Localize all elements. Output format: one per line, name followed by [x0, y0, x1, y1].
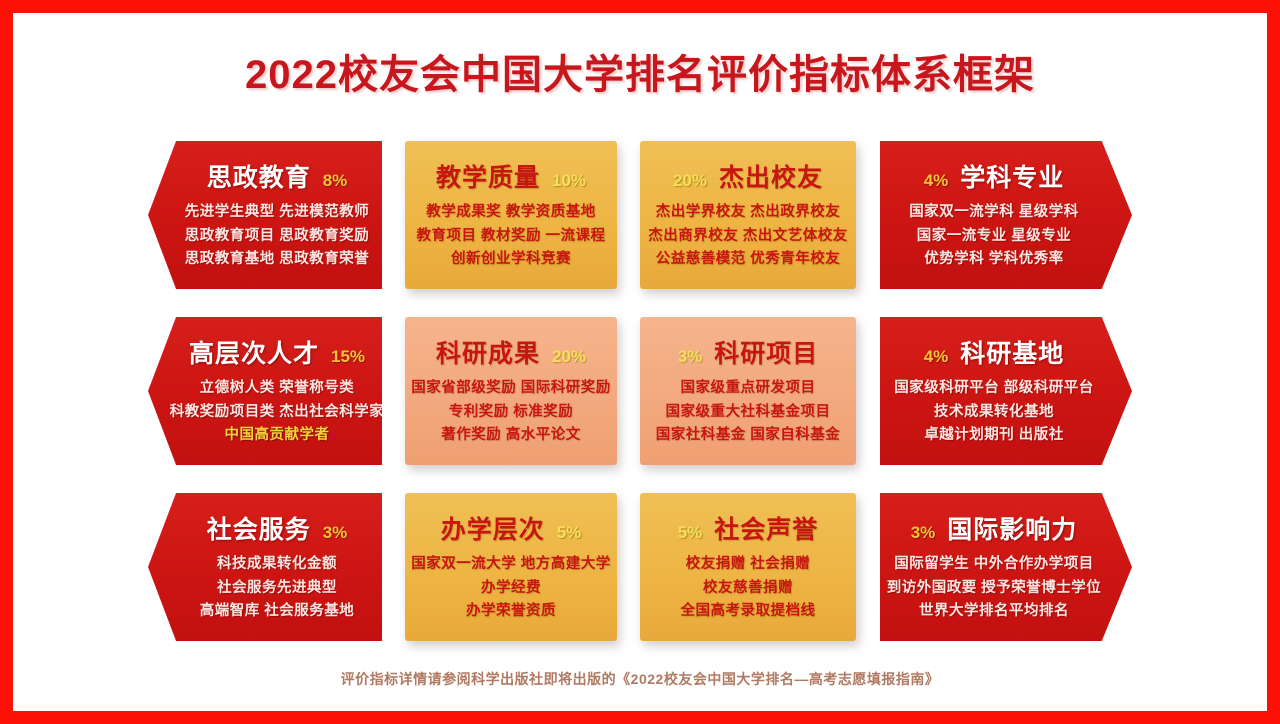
- card-row: 社会服务3%科技成果转化金额社会服务先进典型高端智库 社会服务基地办学层次5%国…: [148, 493, 1132, 641]
- indicator-card[interactable]: 社会服务3%科技成果转化金额社会服务先进典型高端智库 社会服务基地: [148, 493, 382, 641]
- card-weight-percent: 15%: [331, 347, 365, 367]
- card-title: 杰出校友: [719, 158, 823, 194]
- card-header: 3%国际影响力: [911, 510, 1078, 546]
- card-item-line: 高端智库 社会服务基地: [200, 602, 355, 622]
- card-item-line: 创新创业学科竞赛: [451, 250, 571, 270]
- frame-border-bottom: [0, 711, 1280, 724]
- card-title: 社会声誉: [714, 510, 818, 546]
- card-weight-percent: 8%: [323, 171, 348, 191]
- card-header: 教学质量10%: [436, 158, 586, 194]
- card-weight-percent: 4%: [924, 171, 949, 191]
- card-title: 社会服务: [207, 510, 311, 546]
- card-header: 4%学科专业: [924, 158, 1065, 194]
- card-item-line: 全国高考录取提档线: [681, 602, 816, 622]
- card-header: 办学层次5%: [441, 510, 582, 546]
- card-item-line: 科教奖励项目类 杰出社会科学家: [170, 403, 385, 423]
- card-item-line: 校友慈善捐赠: [703, 579, 793, 599]
- card-item-line: 教育项目 教材奖励 一流课程: [416, 227, 605, 247]
- infographic-page: 2022校友会中国大学排名评价指标体系框架 思政教育8%先进学生典型 先进模范教…: [0, 0, 1280, 724]
- card-item-line: 国家一流专业 星级专业: [917, 227, 1072, 247]
- card-item-line: 专利奖励 标准奖励: [449, 403, 574, 423]
- card-header: 4%科研基地: [924, 334, 1065, 370]
- card-item-line: 国家级科研平台 部级科研平台: [894, 379, 1094, 399]
- card-item-line: 国家级重点研发项目: [681, 379, 816, 399]
- card-item-line: 先进学生典型 先进模范教师: [185, 203, 370, 223]
- card-title: 思政教育: [207, 158, 311, 194]
- card-header: 社会服务3%: [207, 510, 348, 546]
- card-item-line: 技术成果转化基地: [934, 403, 1054, 423]
- indicator-card[interactable]: 4%科研基地国家级科研平台 部级科研平台技术成果转化基地卓越计划期刊 出版社: [880, 317, 1132, 465]
- card-item-list: 校友捐赠 社会捐赠校友慈善捐赠全国高考录取提档线: [650, 555, 846, 622]
- card-item-line: 立德树人类 荣誉称号类: [200, 379, 355, 399]
- card-weight-percent: 3%: [678, 347, 703, 367]
- indicator-card[interactable]: 思政教育8%先进学生典型 先进模范教师思政教育项目 思政教育奖励思政教育基地 思…: [148, 141, 382, 289]
- indicator-card[interactable]: 科研成果20%国家省部级奖励 国际科研奖励专利奖励 标准奖励著作奖励 高水平论文: [405, 317, 617, 465]
- card-item-line: 优势学科 学科优秀率: [924, 250, 1064, 270]
- card-item-list: 教学成果奖 教学资质基地教育项目 教材奖励 一流课程创新创业学科竞赛: [415, 203, 607, 270]
- card-item-line: 国家级重大社科基金项目: [666, 403, 831, 423]
- card-title: 教学质量: [436, 158, 540, 194]
- card-item-line: 世界大学排名平均排名: [919, 602, 1069, 622]
- card-weight-percent: 5%: [557, 523, 582, 543]
- card-title: 科研项目: [714, 334, 818, 370]
- card-item-line: 国家双一流大学 地方高建大学: [411, 555, 611, 575]
- card-weight-percent: 10%: [552, 171, 586, 191]
- card-header: 3%科研项目: [678, 334, 819, 370]
- indicator-card[interactable]: 3%科研项目国家级重点研发项目国家级重大社科基金项目国家社科基金 国家自科基金: [640, 317, 856, 465]
- card-item-line: 卓越计划期刊 出版社: [924, 426, 1064, 446]
- card-item-line: 国家社科基金 国家自科基金: [656, 426, 841, 446]
- page-title: 2022校友会中国大学排名评价指标体系框架: [0, 42, 1280, 100]
- card-item-line: 杰出商界校友 杰出文艺体校友: [648, 227, 848, 247]
- card-weight-percent: 5%: [678, 523, 703, 543]
- card-item-list: 国家级科研平台 部级科研平台技术成果转化基地卓越计划期刊 出版社: [890, 379, 1098, 446]
- card-item-line: 杰出学界校友 杰出政界校友: [656, 203, 841, 223]
- card-title: 高层次人才: [189, 334, 319, 370]
- card-item-line: 到访外国政要 授予荣誉博士学位: [887, 579, 1102, 599]
- card-weight-percent: 3%: [911, 523, 936, 543]
- card-weight-percent: 4%: [924, 347, 949, 367]
- card-item-list: 国家省部级奖励 国际科研奖励专利奖励 标准奖励著作奖励 高水平论文: [415, 379, 607, 446]
- card-item-list: 立德树人类 荣誉称号类科教奖励项目类 杰出社会科学家中国高贡献学者: [182, 379, 372, 446]
- card-item-line: 中国高贡献学者: [225, 426, 330, 446]
- card-item-list: 国际留学生 中外合作办学项目到访外国政要 授予荣誉博士学位世界大学排名平均排名: [890, 555, 1098, 622]
- card-row: 思政教育8%先进学生典型 先进模范教师思政教育项目 思政教育奖励思政教育基地 思…: [148, 141, 1132, 289]
- card-title: 科研基地: [960, 334, 1064, 370]
- card-item-list: 先进学生典型 先进模范教师思政教育项目 思政教育奖励思政教育基地 思政教育荣誉: [182, 203, 372, 270]
- card-item-line: 公益慈善模范 优秀青年校友: [656, 250, 841, 270]
- card-title: 办学层次: [441, 510, 545, 546]
- card-item-list: 国家双一流大学 地方高建大学办学经费办学荣誉资质: [415, 555, 607, 622]
- card-item-list: 科技成果转化金额社会服务先进典型高端智库 社会服务基地: [182, 555, 372, 622]
- card-row: 高层次人才15%立德树人类 荣誉称号类科教奖励项目类 杰出社会科学家中国高贡献学…: [148, 317, 1132, 465]
- card-item-list: 国家级重点研发项目国家级重大社科基金项目国家社科基金 国家自科基金: [650, 379, 846, 446]
- indicator-card[interactable]: 5%社会声誉校友捐赠 社会捐赠校友慈善捐赠全国高考录取提档线: [640, 493, 856, 641]
- card-item-line: 国家双一流学科 星级学科: [909, 203, 1079, 223]
- card-item-line: 办学经费: [481, 579, 541, 599]
- card-title: 国际影响力: [947, 510, 1077, 546]
- card-item-list: 国家双一流学科 星级学科国家一流专业 星级专业优势学科 学科优秀率: [890, 203, 1098, 270]
- card-header: 科研成果20%: [436, 334, 586, 370]
- indicator-card[interactable]: 高层次人才15%立德树人类 荣誉称号类科教奖励项目类 杰出社会科学家中国高贡献学…: [148, 317, 382, 465]
- card-item-line: 办学荣誉资质: [466, 602, 556, 622]
- indicator-card[interactable]: 办学层次5%国家双一流大学 地方高建大学办学经费办学荣誉资质: [405, 493, 617, 641]
- card-item-list: 杰出学界校友 杰出政界校友杰出商界校友 杰出文艺体校友公益慈善模范 优秀青年校友: [650, 203, 846, 270]
- indicator-card-grid: 思政教育8%先进学生典型 先进模范教师思政教育项目 思政教育奖励思政教育基地 思…: [148, 141, 1132, 641]
- footer-note: 评价指标详情请参阅科学出版社即将出版的《2022校友会中国大学排名—高考志愿填报…: [0, 669, 1280, 689]
- card-item-line: 著作奖励 高水平论文: [441, 426, 581, 446]
- card-weight-percent: 20%: [673, 171, 707, 191]
- frame-border-right: [1267, 0, 1280, 724]
- card-title: 科研成果: [436, 334, 540, 370]
- indicator-card[interactable]: 3%国际影响力国际留学生 中外合作办学项目到访外国政要 授予荣誉博士学位世界大学…: [880, 493, 1132, 641]
- card-weight-percent: 20%: [552, 347, 586, 367]
- card-item-line: 思政教育基地 思政教育荣誉: [185, 250, 370, 270]
- indicator-card[interactable]: 教学质量10%教学成果奖 教学资质基地教育项目 教材奖励 一流课程创新创业学科竞…: [405, 141, 617, 289]
- card-item-line: 校友捐赠 社会捐赠: [686, 555, 811, 575]
- card-header: 高层次人才15%: [189, 334, 365, 370]
- indicator-card[interactable]: 4%学科专业国家双一流学科 星级学科国家一流专业 星级专业优势学科 学科优秀率: [880, 141, 1132, 289]
- card-item-line: 国际留学生 中外合作办学项目: [894, 555, 1094, 575]
- card-title: 学科专业: [960, 158, 1064, 194]
- card-weight-percent: 3%: [323, 523, 348, 543]
- frame-border-top: [0, 0, 1280, 13]
- indicator-card[interactable]: 20%杰出校友杰出学界校友 杰出政界校友杰出商界校友 杰出文艺体校友公益慈善模范…: [640, 141, 856, 289]
- card-header: 20%杰出校友: [673, 158, 823, 194]
- card-item-line: 社会服务先进典型: [217, 579, 337, 599]
- frame-border-left: [0, 0, 13, 724]
- card-header: 思政教育8%: [207, 158, 348, 194]
- card-item-line: 教学成果奖 教学资质基地: [426, 203, 596, 223]
- card-item-line: 科技成果转化金额: [217, 555, 337, 575]
- card-item-line: 国家省部级奖励 国际科研奖励: [411, 379, 611, 399]
- card-item-line: 思政教育项目 思政教育奖励: [185, 227, 370, 247]
- card-header: 5%社会声誉: [678, 510, 819, 546]
